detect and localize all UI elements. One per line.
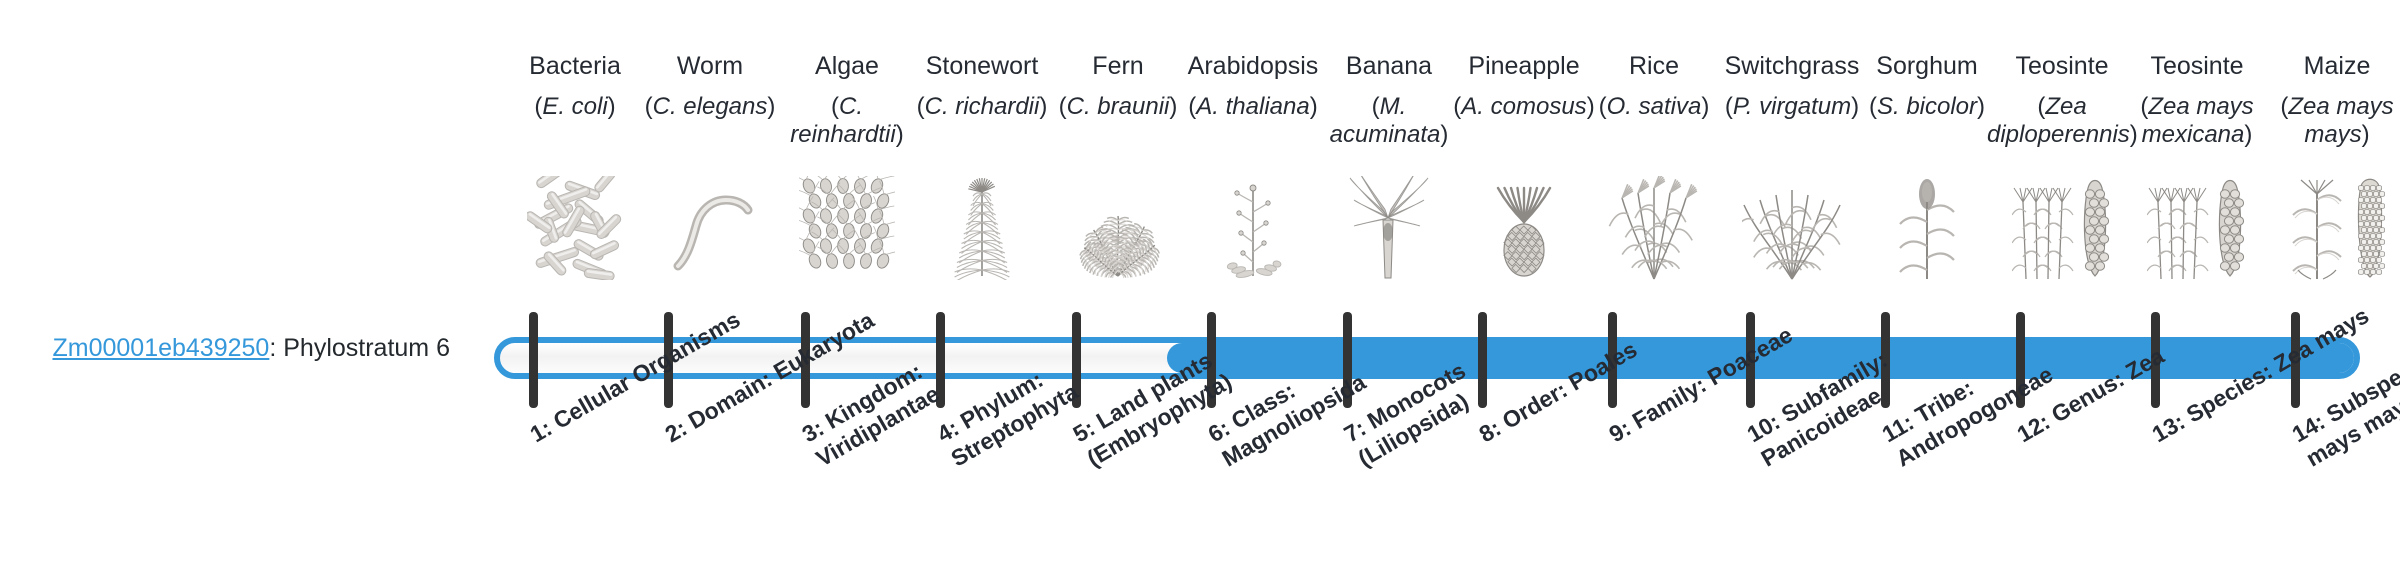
phylostratum-value: Phylostratum 6 — [283, 334, 450, 362]
nematode-worm-icon — [635, 170, 785, 280]
rank-number: 9: — [1605, 415, 1636, 448]
species-column: Teosinte(Zea mays mexicana) — [2122, 52, 2272, 148]
rank-number: 1: — [526, 415, 557, 448]
gene-label-separator: : — [269, 334, 283, 362]
species-common-name: Maize — [2262, 52, 2400, 81]
species-scientific-name: (S. bicolor) — [1852, 93, 2002, 121]
fern-frond-icon — [1043, 170, 1193, 280]
species-scientific-name: (C. braunii) — [1043, 93, 1193, 121]
species-column: Rice(O. sativa) — [1579, 52, 1729, 121]
rank-number: 12: — [2013, 408, 2055, 447]
species-scientific-name: (A. thaliana) — [1178, 93, 1328, 121]
stonewort-plant-icon — [907, 170, 1057, 280]
teosinte-plant-ear-icon — [2122, 170, 2272, 280]
species-common-name: Bacteria — [500, 52, 650, 81]
species-common-name: Teosinte — [1987, 52, 2137, 81]
species-scientific-name: (Zea mays mays) — [2262, 93, 2400, 149]
pineapple-plant-icon — [1449, 170, 1599, 280]
sorghum-plant-icon — [1852, 170, 2002, 280]
arabidopsis-plant-icon — [1178, 170, 1328, 280]
species-scientific-name: (C. elegans) — [635, 93, 785, 121]
species-common-name: Worm — [635, 52, 785, 81]
species-scientific-name: (P. virgatum) — [1717, 93, 1867, 121]
species-column: Fern(C. braunii) — [1043, 52, 1193, 121]
species-common-name: Fern — [1043, 52, 1193, 81]
teosinte-plant-ear-icon — [1987, 170, 2137, 280]
species-column: Teosinte(Zea diploperennis) — [1987, 52, 2137, 148]
species-common-name: Switchgrass — [1717, 52, 1867, 81]
bacteria-rods-icon — [500, 170, 650, 280]
gene-id-link[interactable]: Zm00001eb439250 — [52, 334, 269, 362]
species-scientific-name: (Zea diploperennis) — [1987, 93, 2137, 149]
gene-phylostratum-label: Zm00001eb439250: Phylostratum 6 — [0, 334, 450, 363]
species-scientific-name: (Zea mays mexicana) — [2122, 93, 2272, 149]
species-column: Algae(C. reinhardtii) — [772, 52, 922, 148]
rank-number: 2: — [661, 415, 692, 448]
species-scientific-name: (C. richardii) — [907, 93, 1057, 121]
species-common-name: Stonewort — [907, 52, 1057, 81]
species-common-name: Sorghum — [1852, 52, 2002, 81]
rice-grass-icon — [1579, 170, 1729, 280]
species-common-name: Arabidopsis — [1178, 52, 1328, 81]
banana-tree-icon — [1314, 170, 1464, 280]
species-common-name: Algae — [772, 52, 922, 81]
switchgrass-icon — [1717, 170, 1867, 280]
species-scientific-name: (C. reinhardtii) — [772, 93, 922, 149]
species-common-name: Banana — [1314, 52, 1464, 81]
species-column: Pineapple(A. comosus) — [1449, 52, 1599, 121]
species-common-name: Rice — [1579, 52, 1729, 81]
species-common-name: Teosinte — [2122, 52, 2272, 81]
species-scientific-name: (O. sativa) — [1579, 93, 1729, 121]
species-scientific-name: (A. comosus) — [1449, 93, 1599, 121]
species-scientific-name: (E. coli) — [500, 93, 650, 121]
species-column: Bacteria(E. coli) — [500, 52, 650, 121]
species-column: Banana(M. acuminata) — [1314, 52, 1464, 148]
species-common-name: Pineapple — [1449, 52, 1599, 81]
species-column: Worm(C. elegans) — [635, 52, 785, 121]
phylostratum-tick[interactable] — [529, 312, 538, 408]
species-column: Maize(Zea mays mays) — [2262, 52, 2400, 148]
species-column: Switchgrass(P. virgatum) — [1717, 52, 1867, 121]
species-scientific-name: (M. acuminata) — [1314, 93, 1464, 149]
species-column: Stonewort(C. richardii) — [907, 52, 1057, 121]
species-column: Arabidopsis(A. thaliana) — [1178, 52, 1328, 121]
phylostratum-timeline: Zm00001eb439250: Phylostratum 6 Bacteria… — [0, 0, 2400, 580]
maize-plant-cob-icon — [2262, 170, 2400, 280]
species-column: Sorghum(S. bicolor) — [1852, 52, 2002, 121]
rank-number: 8: — [1475, 415, 1506, 448]
rank-number: 13: — [2148, 408, 2190, 447]
green-algae-cells-icon — [772, 170, 922, 280]
